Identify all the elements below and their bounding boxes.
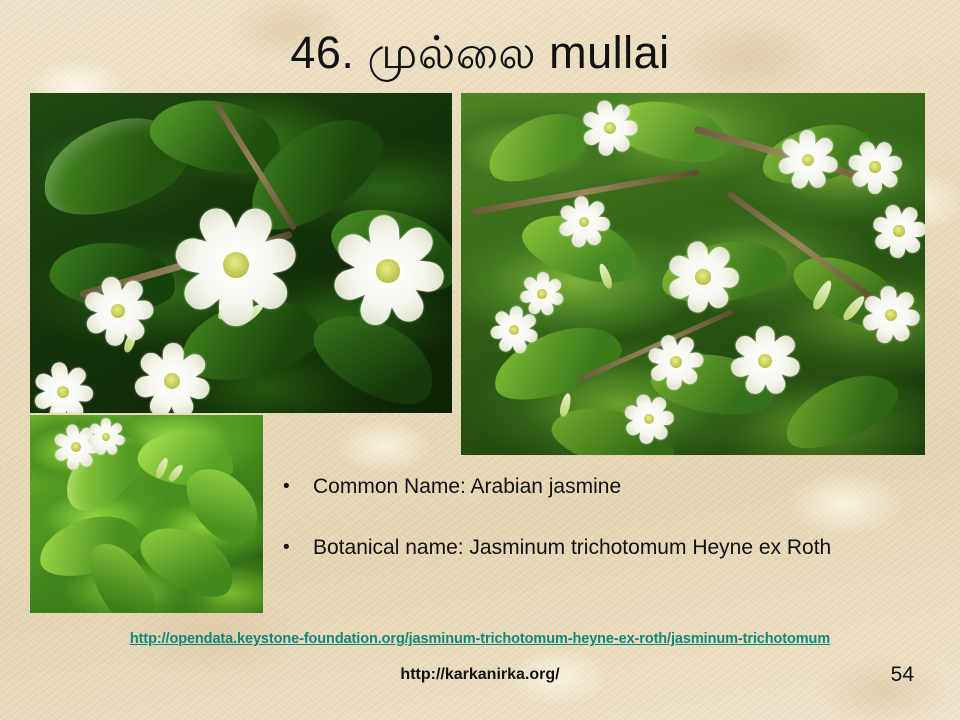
- jasmine-flower: [623, 393, 675, 445]
- jasmine-flower: [330, 213, 446, 329]
- list-item: •Common Name: Arabian jasmine: [283, 474, 621, 500]
- source-link[interactable]: http://opendata.keystone-foundation.org/…: [0, 630, 960, 649]
- jasmine-flower: [82, 275, 154, 347]
- jasmine-flower: [665, 239, 741, 315]
- footer-site-url: http://karkanirka.org/: [0, 664, 960, 686]
- jasmine-flower: [847, 139, 903, 195]
- bullet-text: Botanical name: Jasminum trichotomum Hey…: [313, 535, 831, 561]
- page-title: 46. முல்லை mullai: [0, 24, 960, 82]
- jasmine-flower: [647, 333, 705, 391]
- bullet-marker: •: [283, 535, 313, 561]
- jasmine-flower: [729, 325, 801, 397]
- list-item: •Botanical name: Jasminum trichotomum He…: [283, 535, 831, 561]
- jasmine-flower: [777, 129, 839, 191]
- photo-jasmine-flowers-closeup-left: [30, 93, 452, 413]
- slide-canvas: 46. முல்லை mullai: [0, 0, 960, 720]
- bullet-text: Common Name: Arabian jasmine: [313, 474, 621, 500]
- page-number: 54: [891, 662, 914, 688]
- jasmine-flower: [132, 341, 212, 413]
- jasmine-flower: [581, 99, 639, 157]
- photo-jasmine-shrub-right: [461, 93, 925, 455]
- jasmine-flower: [519, 271, 565, 317]
- jasmine-flower: [172, 201, 300, 329]
- jasmine-flower: [871, 203, 925, 259]
- photo-jasmine-leaves-bottom-left: [30, 415, 263, 613]
- jasmine-flower: [861, 285, 921, 345]
- jasmine-flower: [86, 417, 126, 457]
- jasmine-flower: [32, 361, 94, 413]
- bullet-marker: •: [283, 474, 313, 500]
- jasmine-flower: [557, 195, 611, 249]
